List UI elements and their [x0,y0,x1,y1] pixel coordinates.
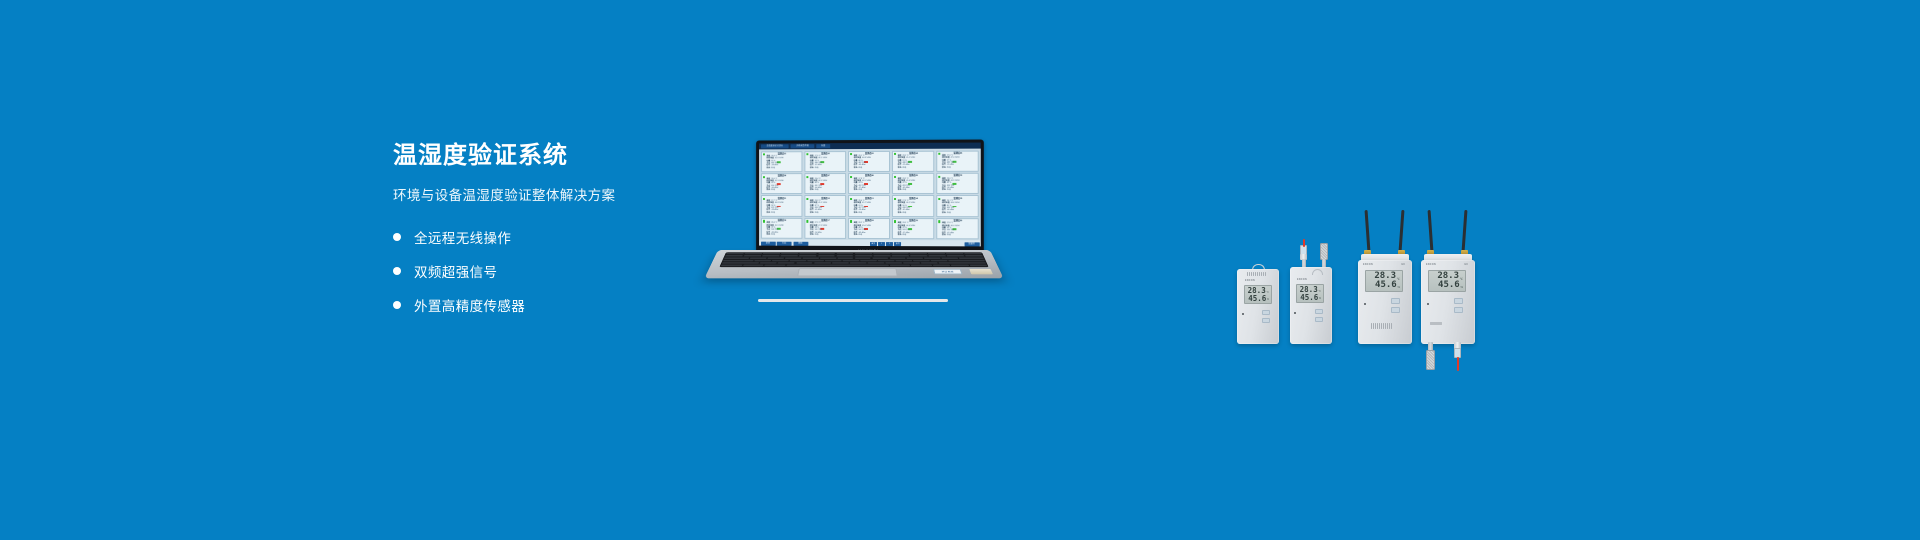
palm-sticker-label: 验证系统 [941,270,954,273]
device-brand-label: ENCON [1245,280,1255,282]
device-button-up[interactable] [1454,298,1463,304]
lcd-humidity-value: 45.6 [1375,281,1397,290]
card-field-key: 状态 [898,190,902,192]
lcd-display: 28.3 ℃ 45.6 % [1428,270,1466,292]
device-body: ENCON H8 28.3 ℃ 45.6 % [1358,260,1412,344]
card-field-value: 在线 [858,190,862,192]
card-field-rows: 温度28.6 ℃相对湿度44.9 %RH电量89 %节点494 节点信号-56 … [939,178,977,192]
device-brand-label: ENCON [1363,264,1373,266]
device-body: ENCON 28.3 ℃ 45.6 % [1290,267,1332,344]
device-port [1430,322,1442,325]
feature-label: 全远程无线操作 [414,227,511,247]
antenna-right-icon [1399,210,1405,252]
card-row-state: 状态在线 [942,213,977,215]
device-brand-label: ENCON [1426,264,1436,266]
laptop-base-surface: 验证系统 [704,250,1003,278]
card-field-rows: 温度27.5 ℃相对湿度47.3 %RH电量98 %节点501 节点信号-54 … [807,223,844,237]
card-status-dot-icon [806,153,808,155]
lcd-display: 28.3 ℃ 45.6 % [1244,285,1272,304]
card-row-state: 状态在线 [810,213,844,215]
card-field-value: 在线 [771,168,775,170]
card-field-value: 在线 [947,168,951,170]
bullet-dot-icon [393,267,401,275]
monitor-card[interactable]: 监测点15温度28.1 ℃相对湿度44.6 %RH电量85 %节点499 节点信… [936,195,979,216]
humidity-probe-mesh-icon [1426,350,1435,370]
card-field-rows: 温度27.8 ℃相对湿度46.5 %RH电量94 %节点492 节点信号-57 … [851,178,888,192]
card-field-key: 状态 [854,168,858,170]
card-field-rows: 温度28.2 ℃相对湿度45.0 %RH电量88 %节点502 节点信号-63 … [851,223,888,237]
card-status-dot-icon [850,153,852,155]
card-field-rows: 温度27.7 ℃相对湿度46.8 %RH电量96 %节点495 节点信号-58 … [763,201,800,215]
card-field-key: 状态 [898,168,902,170]
status-led-icon [1427,303,1429,305]
keyboard-key[interactable] [890,265,911,267]
lcd-humidity-unit: % [1460,286,1463,289]
monitor-card[interactable]: 监测点17温度27.5 ℃相对湿度47.3 %RH电量98 %节点501 节点信… [804,218,847,239]
card-row-state: 状态在线 [942,235,977,237]
lcd-humidity-line: 45.6 % [1299,294,1321,301]
laptop-lid: 温湿度验证记录仪 无线采集终端 设置 监测点01温度28.3 ℃相对湿度45.6… [756,140,984,256]
card-status-dot-icon [850,176,852,178]
vent-grill-icon [1371,323,1392,329]
device-button-down[interactable] [1391,307,1400,313]
device-button-down[interactable] [1262,318,1270,323]
list-item: 全远程无线操作 [393,227,723,247]
vent-grill-icon [1247,272,1266,276]
monitor-card[interactable]: 监测点16温度28.4 ℃相对湿度45.5 %RH电量91 %节点500 节点信… [761,218,803,239]
monitor-card[interactable]: 监测点02温度27.9 ℃相对湿度46.1 %RH电量93 %节点486 节点信… [804,151,847,172]
card-row-state: 状态在线 [898,235,933,237]
tab-monitor[interactable]: 温湿度验证记录仪 [761,144,789,148]
card-row-state: 状态在线 [854,168,888,170]
card-field-key: 状态 [766,190,770,192]
card-field-rows: 温度28.4 ℃相对湿度45.5 %RH电量91 %节点500 节点信号-60 … [763,223,800,237]
laptop-front-lip [758,299,948,302]
card-field-rows: 温度27.9 ℃相对湿度46.2 %RH电量90 %节点498 节点信号-61 … [895,201,933,215]
card-field-key: 状态 [810,168,814,170]
laptop-screen: 温湿度验证记录仪 无线采集终端 设置 监测点01温度28.3 ℃相对湿度45.6… [759,143,981,247]
probe-wire-red [1303,239,1305,247]
card-field-key: 状态 [766,235,770,237]
monitor-card[interactable]: 监测点09温度28.2 ℃相对湿度45.4 %RH电量92 %节点493 节点信… [892,173,935,194]
card-row-state: 状态在线 [942,190,977,192]
page-subtitle: 环境与设备温湿度验证整体解决方案 [393,188,723,204]
card-row-state: 状态在线 [898,168,933,170]
palm-rest-sticker: 验证系统 [933,269,963,274]
keyboard-key[interactable] [764,265,785,267]
card-status-dot-icon [850,220,852,222]
card-field-rows: 温度27.6 ℃相对湿度47.0 %RH电量97 %节点489 节点信号-55 … [939,156,977,170]
wireless-logger-b: ENCON 28.3 ℃ 45.6 % [1287,243,1335,344]
card-field-value: 在线 [947,235,951,237]
card-field-value: 在线 [815,235,819,237]
monitor-card[interactable]: 监测点10温度28.6 ℃相对湿度44.9 %RH电量89 %节点494 节点信… [936,173,979,194]
list-item: 双频超强信号 [393,261,723,281]
card-field-value: 在线 [902,190,906,192]
card-field-key: 状态 [898,235,902,237]
card-status-dot-icon [938,175,940,177]
card-field-value: 在线 [902,168,906,170]
antenna-left-icon [1365,210,1371,252]
device-button-down[interactable] [1454,307,1463,313]
monitor-card[interactable]: 监测点12温度28.3 ℃相对湿度45.1 %RH电量87 %节点496 节点信… [804,195,847,216]
card-field-rows: 温度27.9 ℃相对湿度46.1 %RH电量93 %节点486 节点信号-61 … [807,156,844,170]
card-row-state: 状态在线 [854,213,888,215]
card-row-state: 状态在线 [766,168,800,170]
card-field-key: 状态 [942,168,946,170]
keyboard-key[interactable] [786,265,888,267]
device-model-label: H8 [1401,264,1405,266]
list-item: 外置高精度传感器 [393,295,723,315]
feature-label: 外置高精度传感器 [414,295,525,315]
monitor-card[interactable]: 监测点04温度28.5 ℃相对湿度45.2 %RH电量91 %节点488 节点信… [892,150,935,171]
feature-list: 全远程无线操作 双频超强信号 外置高精度传感器 [393,227,723,315]
card-field-rows: 温度28.0 ℃相对湿度45.7 %RH电量93 %节点497 节点信号-59 … [851,201,888,215]
wireless-logger-d: ENCON H8 28.3 ℃ 45.6 % [1418,210,1478,390]
card-field-key: 状态 [810,235,814,237]
device-body: ENCON 28.3 ℃ 45.6 % [1237,269,1279,344]
lcd-humidity-value: 45.6 [1300,294,1318,301]
card-field-key: 状态 [810,190,814,192]
banner-copy: 温湿度验证系统 环境与设备温湿度验证整体解决方案 全远程无线操作 双频超强信号 … [393,143,723,329]
monitor-card[interactable]: 监测点20温度27.8 ℃相对湿度46.0 %RH电量94 %节点504 节点信… [936,218,979,239]
monitor-card[interactable]: 监测点13温度28.0 ℃相对湿度45.7 %RH电量93 %节点497 节点信… [848,195,891,216]
monitor-grid: 监测点01温度28.3 ℃相对湿度45.6 %RH电量95 %节点485 节点信… [761,150,980,239]
card-field-value: 在线 [771,190,775,192]
lcd-humidity-value: 45.6 [1248,295,1266,302]
card-field-rows: 温度27.8 ℃相对湿度46.0 %RH电量94 %节点504 节点信号-62 … [939,223,977,237]
lcd-humidity-unit: % [1397,286,1400,289]
device-button-down[interactable] [1315,317,1323,322]
lcd-humidity-line: 45.6 % [1247,295,1269,302]
antenna-left-icon [1428,210,1434,252]
card-row-state: 状态在线 [766,213,800,215]
monitor-card[interactable]: 监测点19温度28.5 ℃相对湿度44.4 %RH电量92 %节点503 节点信… [892,218,935,239]
card-row-state: 状态在线 [898,213,933,215]
card-row-state: 状态在线 [898,190,933,192]
lcd-humidity-line: 45.6 % [1368,281,1400,290]
monitor-card[interactable]: 监测点06温度28.0 ℃相对湿度45.9 %RH电量90 %节点490 节点信… [761,173,803,194]
page-title: 温湿度验证系统 [393,143,723,169]
keyboard-key[interactable] [969,265,987,267]
laptop-trackpad[interactable] [797,268,898,276]
tab-collector[interactable]: 无线采集终端 [791,144,815,148]
card-row-state: 状态在线 [810,168,844,170]
card-field-key: 状态 [898,213,902,215]
card-field-value: 在线 [947,190,951,192]
card-row-state: 状态在线 [766,190,800,192]
feature-label: 双频超强信号 [414,261,497,281]
card-field-rows: 温度28.3 ℃相对湿度45.6 %RH电量95 %节点485 节点信号-58 … [763,156,800,170]
card-field-value: 在线 [858,235,862,237]
card-field-value: 在线 [771,213,775,215]
card-field-key: 状态 [942,190,946,192]
bullet-dot-icon [393,233,401,241]
device-button-up[interactable] [1391,298,1400,304]
card-status-dot-icon [938,198,940,200]
card-field-rows: 温度28.2 ℃相对湿度45.4 %RH电量92 %节点493 节点信号-62 … [895,178,933,192]
card-field-value: 在线 [902,213,906,215]
hanger-loop-icon [1312,269,1323,275]
keyboard-key[interactable] [911,265,932,267]
probe-wire-red [1457,357,1459,371]
card-field-rows: 温度28.5 ℃相对湿度45.2 %RH电量91 %节点488 节点信号-59 … [895,156,933,170]
card-field-key: 状态 [854,235,858,237]
device-body: ENCON H8 28.3 ℃ 45.6 % [1421,260,1475,344]
lcd-display: 28.3 ℃ 45.6 % [1296,284,1324,303]
monitor-card[interactable]: 监测点18温度28.2 ℃相对湿度45.0 %RH电量88 %节点502 节点信… [848,218,891,239]
card-row-state: 状态在线 [854,235,888,237]
lcd-humidity-value: 45.6 [1438,281,1460,290]
monitor-card[interactable]: 监测点08温度27.8 ℃相对湿度46.5 %RH电量94 %节点492 节点信… [848,173,891,194]
tab-settings[interactable]: 设置 [816,144,830,148]
device-button-up[interactable] [1262,310,1270,315]
antenna-right-icon [1462,210,1468,252]
keyboard-key[interactable] [721,265,742,267]
card-field-rows: 温度28.1 ℃相对湿度44.8 %RH电量88 %节点487 节点信号-63 … [851,156,888,170]
palm-rest-sticker-secondary [969,269,993,274]
card-field-rows: 温度28.4 ℃相对湿度44.3 %RH电量86 %节点491 节点信号-64 … [807,179,844,193]
card-row-state: 状态在线 [810,235,844,237]
card-field-key: 状态 [854,213,858,215]
monitor-card[interactable]: 监测点03温度28.1 ℃相对湿度44.8 %RH电量88 %节点487 节点信… [848,150,891,171]
card-field-key: 状态 [810,213,814,215]
bullet-dot-icon [393,301,401,309]
monitor-card[interactable]: 监测点07温度28.4 ℃相对湿度44.3 %RH电量86 %节点491 节点信… [804,173,847,194]
card-status-dot-icon [806,220,808,222]
card-field-value: 在线 [947,213,951,215]
card-field-value: 在线 [771,235,775,237]
card-field-rows: 温度28.5 ℃相对湿度44.4 %RH电量92 %节点503 节点信号-57 … [895,223,933,237]
card-field-key: 状态 [766,168,770,170]
monitor-grid-wrap: 监测点01温度28.3 ℃相对湿度45.6 %RH电量95 %节点485 节点信… [759,149,981,241]
card-status-dot-icon [806,176,808,178]
card-status-dot-icon [938,220,940,222]
keyboard-key[interactable] [743,265,764,267]
lcd-display: 28.3 ℃ 45.6 % [1365,270,1403,292]
status-led-icon [1364,303,1366,305]
card-field-rows: 温度28.3 ℃相对湿度45.1 %RH电量87 %节点496 节点信号-65 … [807,201,844,215]
lcd-humidity-unit: % [1267,299,1269,302]
card-row-state: 状态在线 [810,190,844,192]
keyboard-row [721,265,987,267]
monitor-card[interactable]: 监测点01温度28.3 ℃相对湿度45.6 %RH电量95 %节点485 节点信… [761,151,803,172]
card-field-rows: 温度28.1 ℃相对湿度44.6 %RH电量85 %节点499 节点信号-66 … [939,201,977,215]
status-led-icon [1242,313,1244,315]
device-brand-label: ENCON [1297,279,1307,281]
laptop-product-image: 温湿度验证记录仪 无线采集终端 设置 监测点01温度28.3 ℃相对湿度45.6… [718,140,990,300]
card-field-rows: 温度28.0 ℃相对湿度45.9 %RH电量90 %节点490 节点信号-60 … [763,179,800,193]
laptop-keyboard[interactable] [719,252,988,267]
card-field-value: 在线 [858,213,862,215]
device-button-up[interactable] [1315,309,1323,314]
wireless-logger-a: ENCON 28.3 ℃ 45.6 % [1235,264,1281,344]
card-field-value: 在线 [815,168,819,170]
card-row-state: 状态在线 [854,190,888,192]
device-model-label: H8 [1464,264,1468,266]
card-field-value: 在线 [815,190,819,192]
lcd-humidity-line: 45.6 % [1431,281,1463,290]
laptop-base: 验证系统 [704,250,1003,278]
card-row-state: 状态在线 [942,168,977,170]
card-field-key: 状态 [942,213,946,215]
wireless-logger-c: ENCON H8 28.3 ℃ 45.6 % [1355,210,1415,345]
banner-stage: 温湿度验证系统 环境与设备温湿度验证整体解决方案 全远程无线操作 双频超强信号 … [0,0,1920,540]
humidity-probe-mesh-icon [1320,243,1328,260]
keyboard-key[interactable] [951,265,969,267]
monitor-card[interactable]: 监测点14温度27.9 ℃相对湿度46.2 %RH电量90 %节点498 节点信… [892,195,935,216]
card-row-state: 状态在线 [766,235,800,237]
lcd-humidity-unit: % [1319,298,1321,301]
status-led-icon [1294,312,1296,314]
card-field-value: 在线 [902,235,906,237]
card-field-key: 状态 [766,213,770,215]
card-field-value: 在线 [858,168,862,170]
keyboard-key[interactable] [933,265,951,267]
card-field-value: 在线 [815,213,819,215]
card-field-key: 状态 [942,235,946,237]
card-field-key: 状态 [854,190,858,192]
monitor-card[interactable]: 监测点05温度27.6 ℃相对湿度47.0 %RH电量97 %节点489 节点信… [936,150,979,171]
monitor-card[interactable]: 监测点11温度27.7 ℃相对湿度46.8 %RH电量96 %节点495 节点信… [761,195,803,216]
